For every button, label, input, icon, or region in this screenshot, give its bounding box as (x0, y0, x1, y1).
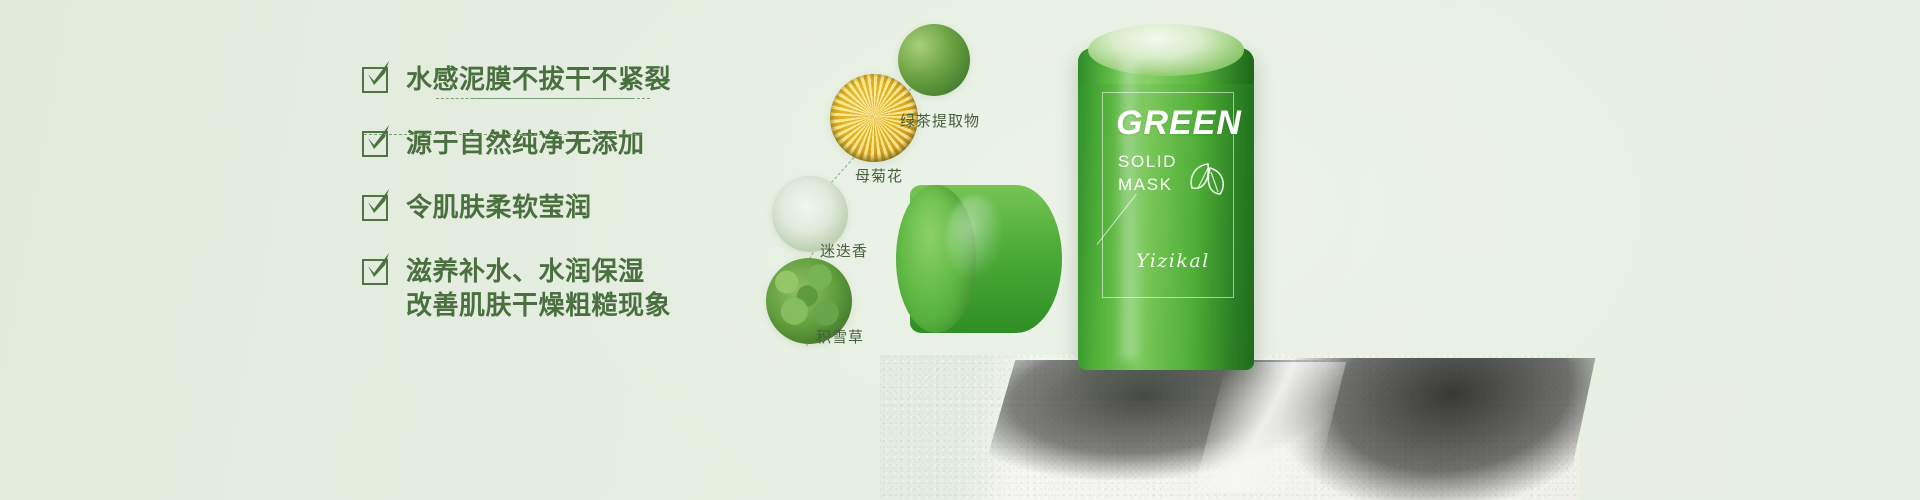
product-mask-dome (1088, 24, 1244, 76)
product-cap-highlight (946, 196, 1004, 282)
leaf-icon (1186, 158, 1230, 204)
product-line-name: SOLID MASK (1118, 150, 1177, 196)
product-brand-name: GREEN (1116, 104, 1236, 143)
product-banner: 水感泥膜不拔干不紧裂 源于自然纯净无添加 令肌肤柔软莹润 (0, 0, 1920, 500)
ingredient-label-centella: 积雪草 (816, 326, 864, 347)
product-photo: GREEN SOLID MASK Yizikal (880, 0, 1580, 500)
ingredient-label-rosemary: 迷迭香 (820, 240, 868, 261)
product-signature: Yizikal (1136, 250, 1210, 272)
